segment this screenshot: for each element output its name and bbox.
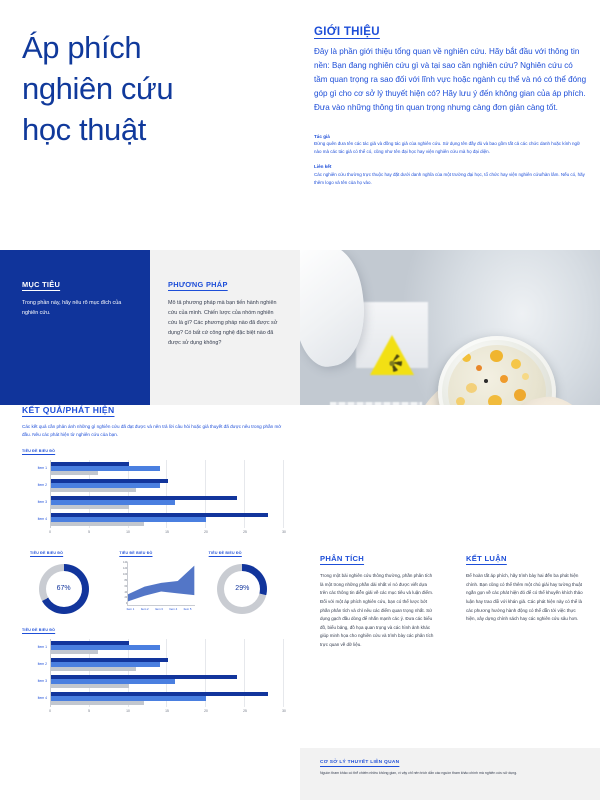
bacteria-colony [484,379,488,383]
bar-group [51,656,284,673]
bar-group [51,690,284,707]
bar [51,658,168,662]
chart-title: TIÊU ĐỀ BIỂU ĐỒ [22,628,284,632]
bar-category-label: Item 1 [22,639,50,656]
chart-title: TIÊU ĐỀ BIỂU ĐỒ [22,551,105,555]
bar [51,479,168,483]
meta-spacer [314,156,588,163]
objective-method-photo-band: MỤC TIÊU Trong phần này, hãy nêu rõ mục … [0,250,600,405]
chart-title: TIÊU ĐỀ BIỂU ĐỒ [201,551,284,555]
introduction-heading: GIỚI THIỆU [314,26,588,38]
bar [51,679,175,683]
x-tick: 30 [282,709,286,713]
donut-value: 67% [39,564,89,614]
bar [51,662,160,666]
objective-text: Trong phần này, hãy nêu rõ mục đích của … [22,298,130,318]
biohazard-symbol-icon [382,353,402,372]
bar [51,517,206,521]
introduction-section: GIỚI THIỆU Đây là phần giới thiệu tổng q… [300,0,600,250]
bacteria-colony [511,359,521,369]
affiliation-label: Liên kết [314,163,588,171]
results-section: KẾT QUẢ/PHÁT HIỆN Các kết quả cần phản á… [0,405,300,717]
bar-category-label: Item 2 [22,656,50,673]
photo-column: Chú thích ảnh ở đây [300,250,600,405]
method-panel: PHƯƠNG PHÁP Mô tả phương pháp mà bạn tiế… [150,250,300,405]
bar-x-axis: 051015202530 [50,530,284,538]
bar-plot-area [50,460,284,528]
test-tube-rack [330,402,422,405]
method-text: Mô tả phương pháp mà bạn tiến hành nghiê… [168,298,284,348]
author-text: Đừng quên đưa tên các tác giả và đồng tá… [314,140,588,156]
area-plot-area [127,562,194,606]
bar-category-labels: Item 1 Item 2 Item 3 Item 4 [22,460,50,528]
x-tick: 20 [204,709,208,713]
bar-category-label: Item 2 [22,477,50,494]
x-tick: Item 5 [180,607,194,611]
references-text: Nguồn tham khảo có thể chiếm nhiều không… [320,770,582,776]
method-heading: PHƯƠNG PHÁP [168,280,284,289]
objective-heading: MỤC TIÊU [22,280,130,289]
area-x-axis: Item 1 Item 2 Item 3 Item 4 Item 5 [123,607,194,611]
y-tick: 60 [115,586,127,589]
introduction-text: Đây là phần giới thiệu tổng quan về nghi… [314,45,588,115]
bar [51,692,268,696]
page-title: Áp phíchnghiên cứuhọc thuật [22,28,274,151]
chart-title: TIÊU ĐỀ BIỂU ĐỒ [111,551,194,555]
conclusion-text: Để hoàn tất áp phích, hãy trình bày hai … [466,572,586,624]
laboratory-photo [300,250,600,405]
bar-category-labels: Item 1 Item 2 Item 3 Item 4 [22,639,50,707]
objective-panel: MỤC TIÊU Trong phần này, hãy nêu rõ mục … [0,250,150,405]
bar [51,645,160,649]
area-series [128,562,194,605]
bar-group [51,673,284,690]
bar [51,522,144,526]
analysis-heading: PHÂN TÍCH [320,554,436,563]
x-tick: 15 [165,530,169,534]
bar [51,496,237,500]
x-tick: 5 [88,709,90,713]
x-tick: 15 [165,709,169,713]
bar [51,696,206,700]
results-text: Các kết quả cần phản ánh những gì nghiên… [22,423,284,440]
chart-title: TIÊU ĐỀ BIỂU ĐỒ [22,449,284,453]
y-tick: 120 [115,568,127,571]
bar-x-axis: 051015202530 [50,709,284,717]
bacteria-colony [522,373,529,380]
chart-area-mid: TIÊU ĐỀ BIỂU ĐỒ 140 120 100 80 60 40 20 … [111,551,194,614]
x-tick: 0 [49,530,51,534]
x-tick: Item 4 [166,607,180,611]
x-tick: 30 [282,530,286,534]
bar [51,466,160,470]
analysis-panel: PHÂN TÍCH Trong một bài nghiên cứu thông… [300,540,450,740]
bar [51,513,268,517]
bar-category-label: Item 3 [22,673,50,690]
bacteria-colony [466,383,477,393]
donut-chart: 29% [217,564,267,614]
x-tick: Item 1 [123,607,137,611]
bar [51,675,237,679]
academic-research-poster: Áp phíchnghiên cứuhọc thuật GIỚI THIỆU Đ… [0,0,600,800]
bar [51,462,129,466]
bar [51,488,136,492]
y-tick: 100 [115,574,127,577]
conclusion-heading: KẾT LUẬN [466,554,586,563]
x-tick: 25 [243,530,247,534]
chart-bars-top: TIÊU ĐỀ BIỂU ĐỒ Item 1 Item 2 Item 3 Ite… [22,449,284,538]
bar-category-label: Item 4 [22,690,50,707]
bar [51,505,129,509]
x-tick: Item 3 [152,607,166,611]
chart-donut-right: TIÊU ĐỀ BIỂU ĐỒ 29% [201,551,284,614]
affiliation-text: Các nghiên cứu thường trực thuộc hay đặt… [314,171,588,187]
references-heading: CƠ SỞ LÝ THUYẾT LIÊN QUAN [320,760,582,765]
bacteria-colony [456,397,465,405]
y-tick: 40 [115,592,127,595]
y-tick: 80 [115,580,127,583]
author-label: Tác giả [314,133,588,141]
bar [51,500,175,504]
bar-category-label: Item 4 [22,511,50,528]
bacteria-colony [488,395,502,405]
bar-category-label: Item 3 [22,494,50,511]
bacteria-colony [500,375,508,383]
bar [51,684,129,688]
x-tick: 10 [126,709,130,713]
x-tick: 20 [204,530,208,534]
bacteria-colony [514,389,526,401]
x-tick: 10 [126,530,130,534]
chart-donut-left: TIÊU ĐỀ BIỂU ĐỒ 67% [22,551,105,614]
references-footer: CƠ SỞ LÝ THUYẾT LIÊN QUAN Nguồn tham khả… [300,748,600,800]
bar-group [51,511,284,528]
bacteria-colony [462,353,471,362]
bar [51,650,98,654]
poster-header: Áp phíchnghiên cứuhọc thuật GIỚI THIỆU Đ… [0,0,600,250]
affiliation-block: Liên kết Các nghiên cứu thường trực thuộ… [314,163,588,187]
chart-mid-row: TIÊU ĐỀ BIỂU ĐỒ 67% TIÊU ĐỀ BIỂU ĐỒ 140 … [22,551,284,614]
bacteria-colony [476,365,482,371]
bar [51,667,136,671]
footer-left-spacer [0,748,300,800]
bar [51,701,144,705]
donut-chart: 67% [39,564,89,614]
x-tick: 0 [49,709,51,713]
y-tick: 0 [115,603,127,606]
bar-group [51,460,284,477]
results-heading: KẾT QUẢ/PHÁT HIỆN [22,405,284,415]
bar [51,483,160,487]
bar [51,641,129,645]
y-tick: 20 [115,597,127,600]
bar-plot-area [50,639,284,707]
x-tick: Item 2 [138,607,152,611]
bar-category-label: Item 1 [22,460,50,477]
y-tick: 140 [115,562,127,565]
conclusion-panel: KẾT LUẬN Để hoàn tất áp phích, hãy trình… [450,540,600,740]
bacteria-colony [490,350,503,362]
bar [51,471,98,475]
analysis-text: Trong một bài nghiên cứu thông thường, p… [320,572,436,650]
title-zone: Áp phíchnghiên cứuhọc thuật [0,0,300,250]
bar-group [51,477,284,494]
x-tick: 25 [243,709,247,713]
analysis-conclusion-band: PHÂN TÍCH Trong một bài nghiên cứu thông… [300,540,600,740]
donut-value: 29% [217,564,267,614]
x-tick: 5 [88,530,90,534]
bar-group [51,639,284,656]
area-y-axis: 140 120 100 80 60 40 20 0 [115,562,127,606]
author-block: Tác giả Đừng quên đưa tên các tác giả và… [314,133,588,157]
bar-group [51,494,284,511]
chart-bars-bottom: TIÊU ĐỀ BIỂU ĐỒ Item 1 Item 2 Item 3 Ite… [22,628,284,717]
